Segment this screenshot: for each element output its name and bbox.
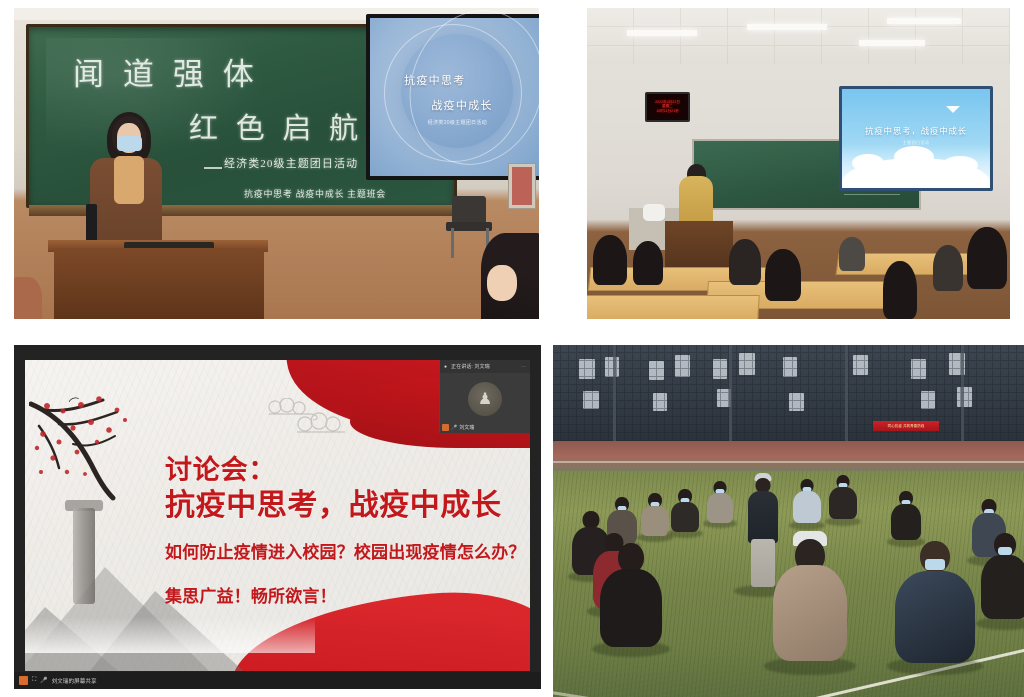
ceiling-light xyxy=(887,18,961,24)
participant-body xyxy=(891,504,921,540)
participant-body xyxy=(829,487,857,519)
participant-name-tag: 🎤 刘文瑞 xyxy=(442,424,474,431)
photo-outdoor-circle: 同心抗疫 共筑青春防线 xyxy=(553,345,1024,697)
plum-blossom-branch xyxy=(29,386,179,506)
student xyxy=(729,239,761,285)
white-bag xyxy=(643,204,665,221)
seated-participant xyxy=(977,533,1024,629)
seated-participant xyxy=(595,543,667,655)
student-foreground-right-face xyxy=(487,265,517,301)
slide-cloud xyxy=(894,146,934,168)
teacher-scarf xyxy=(114,156,144,204)
track-lane-line xyxy=(553,461,1024,463)
led-clock-sign: 2022年3月22日 星期二 10时11分21秒 xyxy=(645,92,690,122)
slide-question-text: 如何防止疫情进入校园？校园出现疫情怎么办？ xyxy=(165,538,526,563)
fire-extinguisher-box xyxy=(508,163,536,209)
face-mask xyxy=(998,547,1012,555)
photo-ppt-slide: ︵ 讨论会： 抗疫中思考，战疫中成长 如何防止疫情进入校园？校园出现疫情怎么办？… xyxy=(14,345,541,689)
lecture-hall-ceiling xyxy=(587,8,1010,64)
campus-banner: 同心抗疫 共筑青春防线 xyxy=(873,421,939,431)
slide-title-line-2: 战疫中成长 xyxy=(431,97,493,113)
photo-classroom-blackboard: 闻 道 强 体 红 色 启 航 经济类20级主题团日活动 抗疫中思考 战疫中成长… xyxy=(14,8,539,319)
podium xyxy=(54,248,264,319)
blackboard-dash xyxy=(204,167,222,169)
thermos-bottle xyxy=(86,204,97,244)
student xyxy=(593,235,627,285)
screen-share-icon[interactable]: ⛶ xyxy=(32,677,36,684)
student-desk-rows xyxy=(587,231,1010,319)
student xyxy=(765,249,801,301)
seated-participant xyxy=(827,475,859,523)
slide-title: 抗疫中思考，战疫中成长 xyxy=(842,125,990,137)
ceiling-light xyxy=(627,30,697,36)
more-dots-icon[interactable]: ⋯ xyxy=(521,364,526,370)
screen-share-label: 刘文瑞的屏幕共享 xyxy=(52,677,97,685)
desk xyxy=(587,295,760,319)
seated-participant-foreground xyxy=(767,531,853,673)
microphone-icon: 🎤 xyxy=(451,425,457,431)
blackboard-line-4: 抗疫中思考 战疫中成长 主题班会 xyxy=(244,187,386,200)
student xyxy=(633,241,663,285)
blackboard-line-1: 闻 道 强 体 xyxy=(73,49,259,94)
meeting-panel-header: ● 正在讲话: 刘文瑞 ⋯ xyxy=(440,360,530,373)
fire-box-panel xyxy=(512,167,532,205)
chair-leg xyxy=(451,228,454,258)
projection-screen: 抗疫中思考，战疫中成长 主题团日活动 xyxy=(839,86,993,191)
slide-subtitle: 主题团日活动 xyxy=(842,140,990,146)
participant-body xyxy=(793,491,821,523)
ceiling-light xyxy=(859,40,925,46)
student xyxy=(967,227,1007,289)
microphone-icon[interactable]: 🎤 xyxy=(40,677,47,684)
participant-body xyxy=(600,569,662,647)
photo-lecture-hall: 2022年3月22日 星期二 10时11分21秒 抗疫中思考，战疫中成长 主题团… xyxy=(587,8,1010,319)
seated-participant xyxy=(889,491,923,545)
led-sign-line-3: 10时11分21秒 xyxy=(656,110,679,114)
participant-body xyxy=(671,502,699,532)
student xyxy=(883,261,917,319)
teacher-face-mask xyxy=(117,136,142,151)
mountain-mist xyxy=(25,617,315,653)
photo-collage: 闻 道 强 体 红 色 启 航 经济类20级主题团日活动 抗疫中思考 战疫中成长… xyxy=(0,0,1024,697)
participant-body xyxy=(641,506,669,536)
banner-text: 同心抗疫 共筑青春防线 xyxy=(888,424,925,429)
stone-pillar xyxy=(73,508,95,604)
projection-screen: 抗疫中思考 战疫中成长 经济类20级主题团日活动 xyxy=(366,14,539,180)
screen-share-taskbar[interactable]: ⛶ 🎤 刘文瑞的屏幕共享 xyxy=(14,672,541,689)
slide-title-line-2: 抗疫中思考，战疫中成长 xyxy=(165,480,502,524)
slide-cloud xyxy=(942,156,978,174)
face-mask xyxy=(925,559,945,570)
blackboard-line-2: 红 色 启 航 xyxy=(189,105,363,147)
student xyxy=(839,237,865,271)
participant-avatar: ♟ xyxy=(468,382,502,416)
running-track xyxy=(553,441,1024,475)
teacher-body xyxy=(679,176,713,226)
slide-ring-b xyxy=(390,8,539,182)
seated-participant xyxy=(791,479,823,527)
ceiling-light xyxy=(747,24,827,30)
person-icon: ● xyxy=(444,364,447,370)
app-icon xyxy=(442,424,449,431)
auspicious-cloud-pattern xyxy=(261,398,361,436)
presentation-slide: ︵ 讨论会： 抗疫中思考，战疫中成长 如何防止疫情进入校园？校园出现疫情怎么办？… xyxy=(25,360,530,671)
app-icon xyxy=(19,676,28,685)
slide-call-to-action-text: 集思广益！畅所欲言！ xyxy=(165,582,337,607)
ceiling-tile-grid xyxy=(587,8,1010,64)
slide-subtitle: 经济类20级主题团日活动 xyxy=(428,119,487,126)
paper-plane-icon xyxy=(946,106,960,113)
student-foreground-left xyxy=(14,277,42,319)
blackboard-line-3: 经济类20级主题团日活动 xyxy=(224,155,358,171)
projection-screen-image: 抗疫中思考 战疫中成长 经济类20级主题团日活动 xyxy=(370,18,539,176)
student xyxy=(933,245,963,291)
seated-participant-foreground xyxy=(889,541,981,673)
meeting-video-panel[interactable]: ● 正在讲话: 刘文瑞 ⋯ ♟ 🎤 刘文瑞 xyxy=(439,360,530,433)
participant-body xyxy=(707,493,733,523)
slide-cloud xyxy=(852,154,884,172)
slide-title-line-1: 抗疫中思考 xyxy=(404,72,466,88)
participant-body xyxy=(981,555,1024,619)
seated-participant xyxy=(669,489,701,535)
participant-name: 刘文瑞 xyxy=(459,424,474,431)
active-speaker-label: 正在讲话: 刘文瑞 xyxy=(451,363,490,370)
plaid-coat xyxy=(773,565,847,661)
chair-back xyxy=(452,196,486,224)
seated-participant xyxy=(705,481,735,525)
camo-jacket xyxy=(895,571,975,663)
